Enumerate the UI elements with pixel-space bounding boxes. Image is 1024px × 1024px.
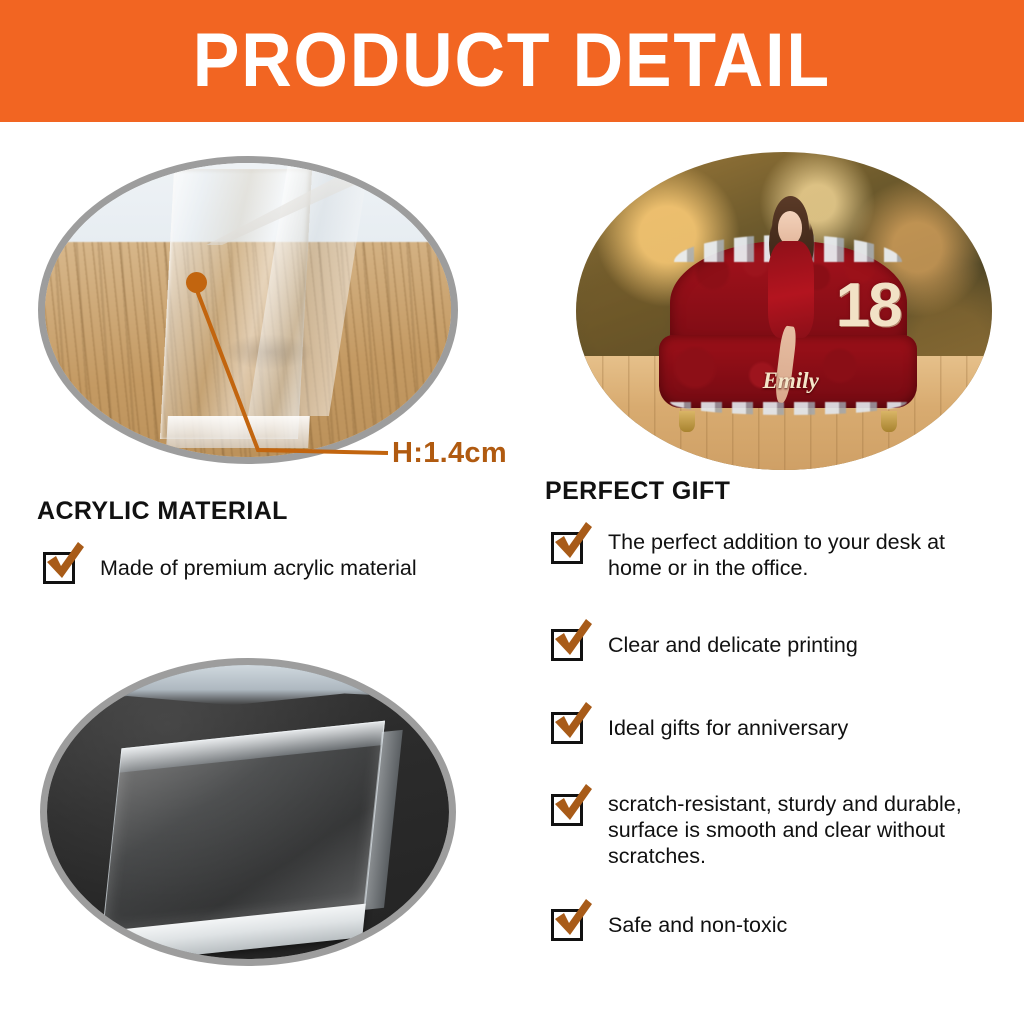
bullet-acrylic-material-0: Made of premium acrylic material — [43, 548, 513, 586]
callout-dot — [186, 272, 207, 293]
rose-sofa: 18 Emily — [659, 241, 917, 413]
page-title: PRODUCT DETAIL — [193, 23, 831, 99]
acrylic-block-photo — [40, 658, 456, 966]
height-label: H:1.4cm — [392, 437, 507, 470]
product-detail-page: PRODUCT DETAIL H:1.4cm — [0, 0, 1024, 1024]
bullet-perfect-gift-1: Clear and delicate printing — [551, 625, 1003, 663]
sofa-legs — [675, 411, 902, 432]
bullet-text: scratch-resistant, sturdy and durable, s… — [608, 791, 1003, 870]
checkmark-icon — [549, 518, 595, 564]
bullet-perfect-gift-2: Ideal gifts for anniversary — [551, 708, 1003, 746]
checkbox-checked-icon — [551, 708, 589, 746]
checkbox-checked-icon — [551, 528, 589, 566]
checkbox-checked-icon — [551, 625, 589, 663]
acrylic-block — [102, 720, 385, 933]
section-title-perfect-gift: PERFECT GIFT — [545, 477, 730, 506]
bullet-text: Ideal gifts for anniversary — [608, 715, 848, 741]
checkmark-icon — [549, 895, 595, 941]
bullet-text: Clear and delicate printing — [608, 632, 858, 658]
header-banner: PRODUCT DETAIL — [0, 0, 1024, 122]
bullet-text: Safe and non-toxic — [608, 912, 787, 938]
age-number: 18 — [832, 269, 904, 345]
acrylic-edge-photo — [38, 156, 458, 464]
checkmark-icon — [549, 698, 595, 744]
checkbox-checked-icon — [551, 905, 589, 943]
acrylic-base-edge — [166, 416, 310, 448]
checkmark-icon — [549, 780, 595, 826]
bullet-text: Made of premium acrylic material — [100, 555, 417, 581]
bullet-perfect-gift-4: Safe and non-toxic — [551, 905, 1003, 943]
section-title-acrylic-material: ACRYLIC MATERIAL — [37, 497, 288, 526]
bullet-text: The perfect addition to your desk at hom… — [608, 529, 1003, 581]
product-photo: 18 Emily — [576, 152, 992, 470]
checkmark-icon — [41, 538, 87, 584]
bullet-perfect-gift-0: The perfect addition to your desk at hom… — [551, 528, 1003, 581]
bullet-perfect-gift-3: scratch-resistant, sturdy and durable, s… — [551, 790, 1003, 870]
checkbox-checked-icon — [551, 790, 589, 828]
personalized-name: Emily — [737, 368, 845, 394]
figure-red-dress — [768, 241, 814, 338]
checkbox-checked-icon — [43, 548, 81, 586]
figure-face — [778, 211, 803, 245]
checkmark-icon — [549, 615, 595, 661]
